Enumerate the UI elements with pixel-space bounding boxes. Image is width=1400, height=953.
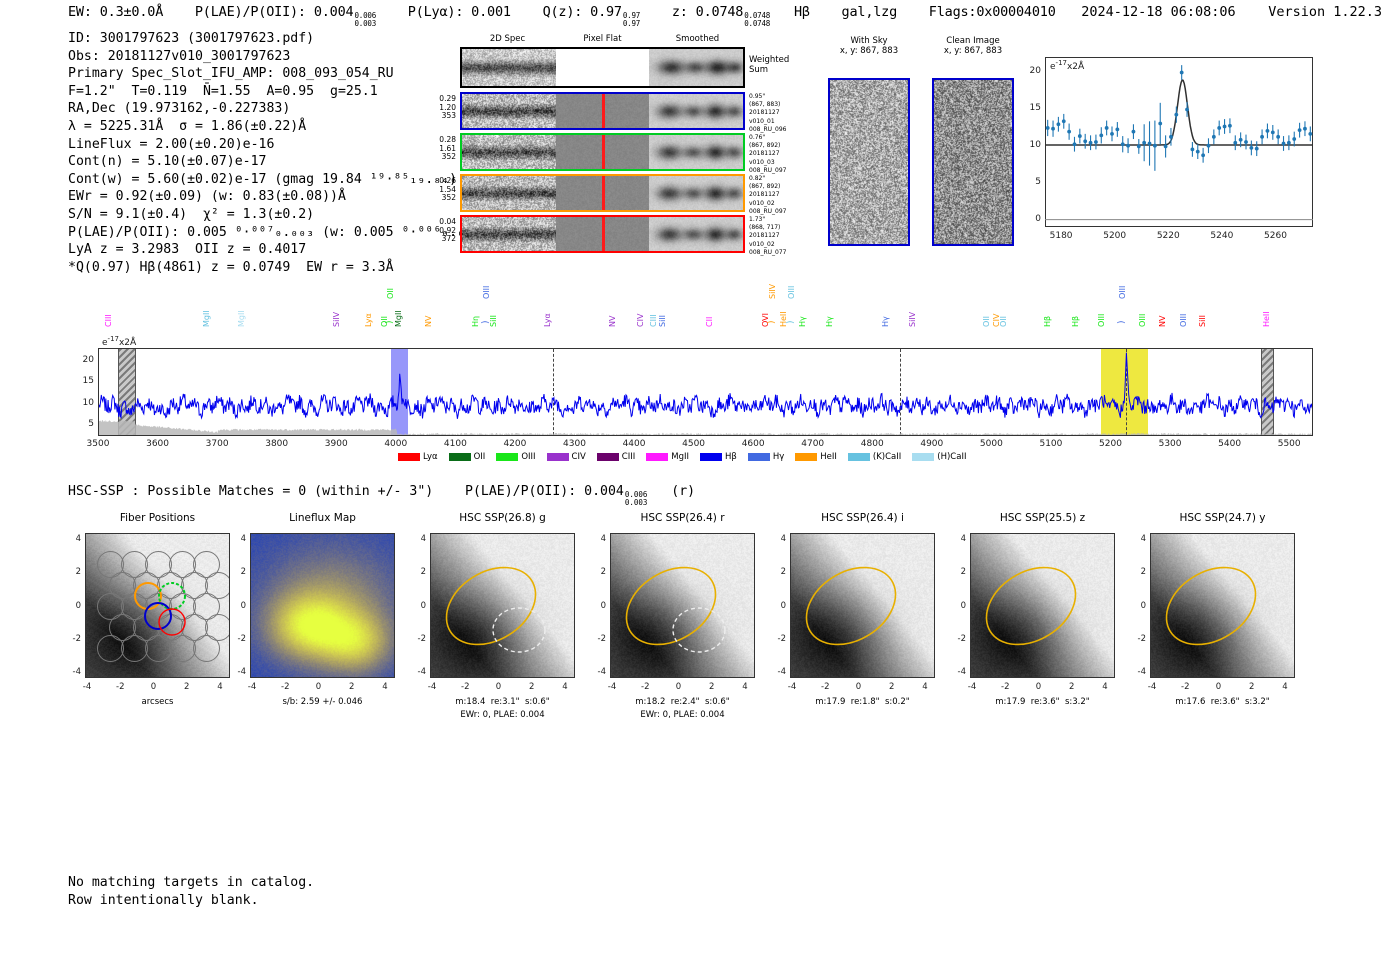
legend-label: (K)CaII: [873, 452, 901, 462]
legend-label: OIII: [521, 452, 535, 462]
header-z-label: z:: [672, 4, 688, 20]
spectrum-ytick: 5: [74, 419, 94, 429]
spectrum-xtick: 4700: [793, 439, 833, 449]
fiber-pixelflat: [556, 135, 650, 169]
spectrum-line-label: HeII: [1262, 311, 1271, 327]
header-meta: 2024-12-18 06:08:06 Version 1.22.3: [1081, 4, 1382, 20]
legend-swatch: [449, 453, 471, 461]
fiber-2dspec: [462, 217, 556, 251]
spectrum-line-label: OIII: [1097, 314, 1106, 327]
zoom-plot-frame: [1045, 57, 1313, 227]
spectrum-line-brace: ): [385, 320, 395, 324]
legend-swatch: [547, 453, 569, 461]
spectrum-line-label: Lyα: [543, 313, 552, 327]
cutout-ytick: 0: [590, 601, 606, 611]
zoom-plot-xtick: 5200: [1097, 231, 1133, 241]
spec-col-header-0: 2D Spec: [460, 34, 555, 44]
cutout-title: HSC SSP(24.7) y: [1120, 512, 1325, 524]
hsc-prefix: HSC-SSP : Possible Matches = 0 (within +…: [68, 484, 433, 499]
spectrum-xtick: 5500: [1269, 439, 1309, 449]
cutout-ytick: 2: [770, 567, 786, 577]
cutout-ytick: -4: [770, 667, 786, 677]
zoom-plot-ytick: 0: [1021, 214, 1041, 224]
legend-label: Lyα: [423, 452, 438, 462]
cutout-ytick: 2: [65, 567, 81, 577]
spectrum-xtick: 3800: [257, 439, 297, 449]
fiber-smoothed: [649, 176, 743, 210]
fiber-row-meta: 1.73" (868, 717) 20181127 v010_02 008_RU…: [749, 216, 805, 257]
cutout-xtick: -2: [275, 682, 295, 692]
fiber-cutout-row: [460, 215, 745, 253]
spectrum-line-label: SiIV: [332, 312, 341, 327]
spectrum-legend: LyαOIIOIIICIVCIIIMgIIHβHγHeII(K)CaII(H)C…: [398, 452, 966, 462]
zoom-plot-ytick: 20: [1021, 66, 1041, 76]
cutout-footnote: m:18.4 re:3.1" s:0.6": [402, 696, 603, 708]
cutout-frame: [970, 533, 1115, 678]
fiber-smoothed: [649, 94, 743, 128]
legend-label: OII: [474, 452, 486, 462]
spectrum-line-label: CIV: [636, 314, 645, 327]
cutout-xtick: -4: [1142, 682, 1162, 692]
cutout-xtick: 4: [1095, 682, 1115, 692]
legend-entry: (H)CaII: [912, 452, 966, 462]
cutout-xtick: -2: [455, 682, 475, 692]
fiber-2dspec: [462, 176, 556, 210]
cutout-ytick: 0: [410, 601, 426, 611]
hsc-match-line: HSC-SSP : Possible Matches = 0 (within +…: [68, 484, 695, 507]
legend-entry: Hβ: [700, 452, 737, 462]
legend-label: (H)CaII: [937, 452, 966, 462]
legend-label: HeII: [820, 452, 837, 462]
cutout-xtick: 0: [1209, 682, 1229, 692]
cutout-ytick: 4: [230, 534, 246, 544]
spectrum-ytick: 20: [74, 355, 94, 365]
legend-entry: CIII: [597, 452, 635, 462]
weighted-sum-label: Weighted Sum: [749, 55, 795, 75]
cutout-xtick: 0: [849, 682, 869, 692]
spectrum-line-label: CIII: [649, 314, 658, 327]
zoom-plot-ytick: 15: [1021, 103, 1041, 113]
legend-label: MgII: [671, 452, 689, 462]
cutout-ytick: 2: [410, 567, 426, 577]
cutout-xtick: 4: [555, 682, 575, 692]
spectrum-line-label: NV: [1158, 316, 1167, 327]
header-plae-value: 0.004: [314, 4, 354, 20]
legend-swatch: [398, 453, 420, 461]
spectrum-line-label: NV: [608, 316, 617, 327]
header-qz-value: 0.97: [590, 4, 622, 20]
cutout-xtick: 2: [342, 682, 362, 692]
cutout-xtick: 2: [522, 682, 542, 692]
spectrum-line-label: Hβ: [1071, 316, 1080, 327]
zoom-plot-ytick: 5: [1021, 177, 1041, 187]
spectrum-line-label: OII: [386, 288, 395, 299]
zoom-plot-xtick: 5180: [1043, 231, 1079, 241]
legend-swatch: [496, 453, 518, 461]
legend-entry: OIII: [496, 452, 535, 462]
cutout-title: HSC SSP(26.4) r: [580, 512, 785, 524]
spectrum-xtick: 5000: [971, 439, 1011, 449]
cutout-ytick: 4: [1130, 534, 1146, 544]
spectrum-line-label: OIII: [1179, 314, 1188, 327]
spectrum-line-label: HeII: [779, 311, 788, 327]
spectrum-line-label: Hγ: [798, 316, 807, 327]
spectrum-line-label: Hγ: [881, 316, 890, 327]
cutout-xtick: 0: [1029, 682, 1049, 692]
spectrum-line-brace: ): [1117, 320, 1127, 324]
header-summary-line: EW: 0.3±0.0Å P(LAE)/P(OII): 0.0040.0060.…: [68, 4, 1056, 28]
spectrum-line-label: SiII: [1198, 315, 1207, 327]
legend-label: CIV: [572, 452, 586, 462]
cutout-xtick: -2: [1175, 682, 1195, 692]
cutout-frame: [250, 533, 395, 678]
cutout-ytick: -4: [950, 667, 966, 677]
fiber-stack-image: [828, 78, 910, 246]
spectrum-line-label: CII: [705, 317, 714, 327]
cutout-xtick: -4: [77, 682, 97, 692]
cutout-xtick: 0: [669, 682, 689, 692]
legend-entry: Lyα: [398, 452, 438, 462]
cutout-ytick: 0: [1130, 601, 1146, 611]
header-z-lo: 0.0748: [744, 20, 770, 28]
cutout-ytick: 2: [590, 567, 606, 577]
legend-swatch: [700, 453, 722, 461]
cutout-footnote: m:17.9 re:1.8" s:0.2": [762, 696, 963, 708]
spectrum-line-label: SiIV: [768, 284, 777, 299]
fiber-row-meta: 0.95" (867, 883) 20181127 v010_01 008_RU…: [749, 93, 805, 134]
spectrum-xtick: 4300: [554, 439, 594, 449]
cutout-xtick: -4: [782, 682, 802, 692]
legend-entry: Hγ: [748, 452, 784, 462]
legend-swatch: [646, 453, 668, 461]
cutout-xtick: -2: [995, 682, 1015, 692]
header-z-value: 0.0748: [696, 4, 744, 20]
weighted-sum-cutout: [460, 47, 745, 88]
legend-swatch: [748, 453, 770, 461]
header-plya: P(Lyα): 0.001: [408, 4, 511, 20]
spectrum-xtick: 3500: [78, 439, 118, 449]
spectrum-line-label: OIII: [787, 286, 796, 299]
cutout-ytick: -2: [950, 634, 966, 644]
cutout-ytick: 0: [770, 601, 786, 611]
hsc-plae-value: 0.004: [584, 484, 624, 499]
spectrum-xtick: 5100: [1031, 439, 1071, 449]
cutout-ytick: 0: [65, 601, 81, 611]
fiber-pixelflat: [556, 176, 650, 210]
cutout-ytick: -4: [590, 667, 606, 677]
cutout-footnote: s/b: 2.59 +/- 0.046: [222, 696, 423, 708]
fiber-cutout-row: [460, 133, 745, 171]
cutout-frame: [85, 533, 230, 678]
cutout-ytick: -4: [230, 667, 246, 677]
spectrum-xtick: 5200: [1091, 439, 1131, 449]
cutout-ytick: -4: [65, 667, 81, 677]
spectrum-line-brace: ): [767, 320, 777, 324]
cutout-footnote: m:18.2 re:2.4" s:0.6": [582, 696, 783, 708]
spectrum-ytick: 15: [74, 376, 94, 386]
spectrum-units: e-17x2Å: [102, 335, 136, 348]
hsc-plae-lo: 0.003: [625, 499, 648, 507]
legend-swatch: [912, 453, 934, 461]
spectrum-xtick: 3600: [138, 439, 178, 449]
pixel-flat-center-line: [602, 217, 605, 251]
cutout-xtick: 4: [375, 682, 395, 692]
header-classification: gal,lzg: [842, 4, 898, 20]
spectrum-line-label: Hη: [471, 316, 480, 327]
spectrum-xtick: 3700: [197, 439, 237, 449]
fiber-row-stats: 0.26 1.54 352: [422, 177, 456, 203]
fiber-stack-image: [932, 78, 1014, 246]
cutout-title: Lineflux Map: [220, 512, 425, 524]
cutout-xtick: 0: [309, 682, 329, 692]
spec-col-header-2: Smoothed: [650, 34, 745, 44]
cutout-xtick: -2: [110, 682, 130, 692]
cutout-ytick: -2: [230, 634, 246, 644]
cutout-ytick: 4: [65, 534, 81, 544]
spec-col-header-1: Pixel Flat: [555, 34, 650, 44]
legend-swatch: [795, 453, 817, 461]
zoom-plot-xtick: 5240: [1204, 231, 1240, 241]
spectrum-line-label: NV: [424, 316, 433, 327]
header-flags: Flags:0x00004010: [929, 4, 1056, 20]
pixel-flat-center-line: [602, 176, 605, 210]
spectrum-line-label: Lyα: [364, 313, 373, 327]
cutout-ytick: 2: [1130, 567, 1146, 577]
cutout-ytick: -2: [770, 634, 786, 644]
spectrum-line-label: OIII: [482, 286, 491, 299]
cutout-frame: [610, 533, 755, 678]
spectrum-xtick: 5400: [1210, 439, 1250, 449]
image-panel-title: With Skyx, y: 867, 883: [810, 36, 928, 56]
cutout-xtick: -2: [635, 682, 655, 692]
cutout-frame: [790, 533, 935, 678]
spectrum-xtick: 4400: [614, 439, 654, 449]
spectrum-xtick: 4600: [733, 439, 773, 449]
cutout-xtick: 2: [1062, 682, 1082, 692]
zoom-plot-units: e-17x2Å: [1050, 59, 1084, 72]
header-qz-label: Q(z):: [543, 4, 583, 20]
cutout-xtick: -4: [962, 682, 982, 692]
cutout-xtick: 2: [177, 682, 197, 692]
cutout-ytick: 4: [770, 534, 786, 544]
legend-entry: (K)CaII: [848, 452, 901, 462]
header-datetime: 2024-12-18 06:08:06: [1081, 4, 1235, 20]
spectrum-ytick: 10: [74, 398, 94, 408]
cutout-ytick: -2: [590, 634, 606, 644]
cutout-xtick: 2: [882, 682, 902, 692]
fiber-smoothed: [649, 217, 743, 251]
cutout-frame: [430, 533, 575, 678]
cutout-xtick: 4: [735, 682, 755, 692]
spectrum-line-brace: ): [786, 320, 796, 324]
spectrum-line-label: SiII: [658, 315, 667, 327]
spectrum-line-label: MgII: [237, 310, 246, 327]
fiber-2dspec: [462, 135, 556, 169]
fiber-2dspec: [462, 94, 556, 128]
spectrum-line-label: MgII: [394, 310, 403, 327]
legend-entry: MgII: [646, 452, 689, 462]
spectrum-xtick: 4800: [852, 439, 892, 449]
cutout-footnote: m:17.6 re:3.6" s:3.2": [1122, 696, 1323, 708]
fiber-pixelflat: [556, 217, 650, 251]
image-panel-name: With Sky: [810, 36, 928, 46]
cutout-title: HSC SSP(25.5) z: [940, 512, 1145, 524]
cutout-ytick: -4: [1130, 667, 1146, 677]
header-qz-lo: 0.97: [623, 20, 640, 28]
cutout-ytick: 0: [230, 601, 246, 611]
spectrum-line-label: OIII: [1138, 314, 1147, 327]
cutout-ytick: 0: [950, 601, 966, 611]
spectrum-line-label: OII: [982, 316, 991, 327]
fiber-smoothed: [649, 135, 743, 169]
cutout-xtick: -2: [815, 682, 835, 692]
fiber-row-stats: 0.28 1.61 352: [422, 136, 456, 162]
image-panel-coords: x, y: 867, 883: [914, 46, 1032, 56]
fiber-cutout-row: [460, 92, 745, 130]
cutout-xtick: 4: [915, 682, 935, 692]
spectrum-xtick: 4000: [376, 439, 416, 449]
zoom-plot-xtick: 5260: [1257, 231, 1293, 241]
fiber-row-stats: 0.29 1.20 353: [422, 95, 456, 121]
legend-swatch: [848, 453, 870, 461]
image-panel-name: Clean Image: [914, 36, 1032, 46]
hsc-plae-label: P(LAE)/P(OII):: [465, 484, 576, 499]
cutout-ytick: -2: [410, 634, 426, 644]
cutout-footnote-secondary: EWr: 0, PLAE: 0.004: [402, 709, 603, 721]
header-version: Version 1.22.3: [1268, 4, 1382, 20]
fiber-cutout-row: [460, 174, 745, 212]
legend-label: Hγ: [773, 452, 784, 462]
legend-entry: CIV: [547, 452, 586, 462]
spectrum-xtick: 3900: [316, 439, 356, 449]
cutout-ytick: 2: [950, 567, 966, 577]
header-plae-lo: 0.003: [354, 20, 376, 28]
spectrum-line-label: Hγ: [825, 316, 834, 327]
spectrum-xtick: 4200: [495, 439, 535, 449]
spectrum-line-label: OII: [999, 316, 1008, 327]
spectrum-line-label: Hβ: [1043, 316, 1052, 327]
zoom-plot-ytick: 10: [1021, 140, 1041, 150]
fiber-row-stats: 0.04 0.92 372: [422, 218, 456, 244]
fiber-row-meta: 0.76" (867, 892) 20181127 v010_03 008_RU…: [749, 134, 805, 175]
cutout-xtick: -4: [602, 682, 622, 692]
spectrum-line-label: SiIV: [908, 312, 917, 327]
pixel-flat-center-line: [602, 94, 605, 128]
cutout-ytick: -2: [1130, 634, 1146, 644]
spectrum-xtick: 4900: [912, 439, 952, 449]
legend-entry: OII: [449, 452, 486, 462]
legend-swatch: [597, 453, 619, 461]
legend-label: CIII: [622, 452, 635, 462]
image-panel-title: Clean Imagex, y: 867, 883: [914, 36, 1032, 56]
cutout-frame: [1150, 533, 1295, 678]
spectrum-line-label: MgII: [202, 310, 211, 327]
cutout-title: HSC SSP(26.4) i: [760, 512, 965, 524]
spectrum-frame: [98, 348, 1313, 436]
cutout-ytick: -4: [410, 667, 426, 677]
header-ew: EW: 0.3±0.0Å: [68, 4, 163, 20]
cutout-xtick: 0: [489, 682, 509, 692]
cutout-xtick: -4: [422, 682, 442, 692]
spectrum-xtick: 4100: [435, 439, 475, 449]
spectrum-xtick: 4500: [674, 439, 714, 449]
legend-label: Hβ: [725, 452, 737, 462]
cutout-footnote-secondary: EWr: 0, PLAE: 0.004: [582, 709, 783, 721]
cutout-xtick: 2: [1242, 682, 1262, 692]
cutout-ytick: 2: [230, 567, 246, 577]
spectrum-xtick: 5300: [1150, 439, 1190, 449]
zoom-plot-xtick: 5220: [1150, 231, 1186, 241]
cutout-footnote: m:17.9 re:3.6" s:3.2": [942, 696, 1143, 708]
cutout-title: HSC SSP(26.8) g: [400, 512, 605, 524]
weighted-sum-pixelflat: [556, 49, 650, 86]
pixel-flat-center-line: [602, 135, 605, 169]
spectrum-line-label: CIII: [104, 314, 113, 327]
weighted-sum-smoothed: [649, 49, 743, 86]
cutout-ytick: 4: [410, 534, 426, 544]
cutout-xtick: -4: [242, 682, 262, 692]
header-line-id: Hβ: [794, 4, 810, 20]
cutout-ytick: 4: [590, 534, 606, 544]
cutout-ytick: -2: [65, 634, 81, 644]
cutout-xtick: 4: [1275, 682, 1295, 692]
header-plae-label: P(LAE)/P(OII):: [195, 4, 306, 20]
cutout-xtick: 4: [210, 682, 230, 692]
bottom-note: No matching targets in catalog. Row inte…: [68, 874, 314, 909]
fiber-pixelflat: [556, 94, 650, 128]
spectrum-line-label: OIII: [1118, 286, 1127, 299]
fiber-row-meta: 0.82" (867, 892) 20181127 v010_02 008_RU…: [749, 175, 805, 216]
cutout-xtick: 2: [702, 682, 722, 692]
spectrum-line-brace: ): [481, 320, 491, 324]
weighted-sum-2dspec: [462, 49, 556, 86]
cutout-xtick: 0: [144, 682, 164, 692]
legend-entry: HeII: [795, 452, 837, 462]
cutout-ytick: 4: [950, 534, 966, 544]
hsc-band: (r): [671, 484, 695, 499]
image-panel-coords: x, y: 867, 883: [810, 46, 928, 56]
